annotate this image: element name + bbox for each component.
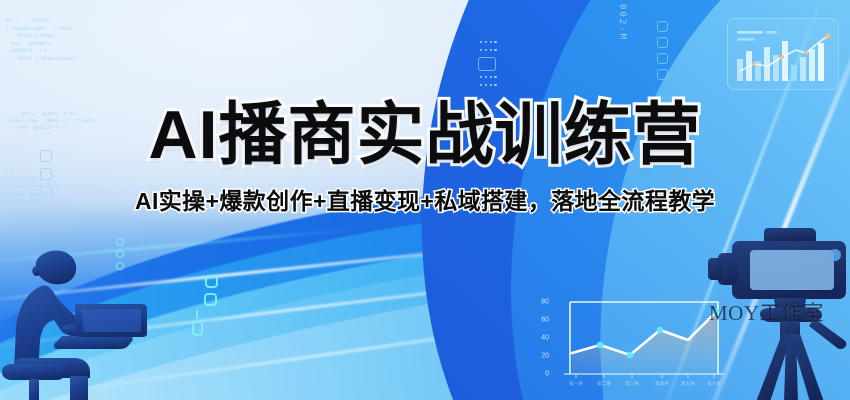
decoration-dot-row — [480, 41, 497, 43]
svg-text:第二季: 第二季 — [597, 380, 611, 387]
decoration-dot-row — [480, 76, 497, 78]
page-title: AI播商实战训练营 — [148, 98, 701, 172]
page-subtitle: AI实操+爆款创作+直播变现+私域搭建，落地全流程教学 — [135, 186, 715, 216]
decoration-square-icon — [657, 21, 668, 32]
decoration-square-icon — [657, 37, 668, 48]
page-subtitle-container: AI实操+爆款创作+直播变现+私域搭建，落地全流程教学 — [0, 186, 850, 216]
decoration-square-icon — [204, 293, 217, 306]
chart-ytick-label: 60 — [541, 317, 549, 324]
decoration-tick-icon — [196, 310, 198, 319]
chart-ytick-label: 0 — [545, 371, 549, 378]
decoration-square-icon — [192, 321, 203, 336]
person-with-laptop-silhouette — [0, 236, 164, 400]
watermark-text: MOY工作室 — [709, 297, 824, 327]
code-decoration-text-1: 01 .. 010101 { #$%&#$%@000 :;/%&#$ ::#1$… — [6, 18, 166, 64]
chart-ytick-label: 20 — [541, 353, 549, 360]
svg-text:第三季: 第三季 — [625, 380, 639, 387]
decoration-dot-row — [480, 49, 497, 51]
svg-text:第四季: 第四季 — [655, 380, 669, 387]
svg-text:第五季: 第五季 — [681, 380, 695, 387]
svg-text:第六季: 第六季 — [707, 380, 721, 387]
page-title-container: AI播商实战训练营 — [0, 98, 850, 172]
course-banner: 01 .. 010101 { #$%&#$%@000 :;/%&#$ ::#1$… — [0, 0, 850, 400]
decoration-square-icon — [205, 275, 218, 288]
chart-ytick-label: 80 — [541, 299, 549, 306]
decoration-square-icon — [657, 53, 668, 64]
vertical-decoration-label: 002-M — [617, 4, 627, 41]
decoration-dot-row — [480, 84, 497, 86]
chart-ytick-label: 40 — [541, 335, 549, 342]
analytics-chart-icon — [727, 18, 839, 90]
decoration-square-icon — [478, 57, 496, 71]
decoration-square-icon — [657, 69, 668, 80]
svg-text:第一季: 第一季 — [569, 380, 583, 387]
mini-line-chart: 第一季 第二季 第三季 第四季 第五季 第六季 80 60 40 20 0 — [552, 296, 724, 392]
